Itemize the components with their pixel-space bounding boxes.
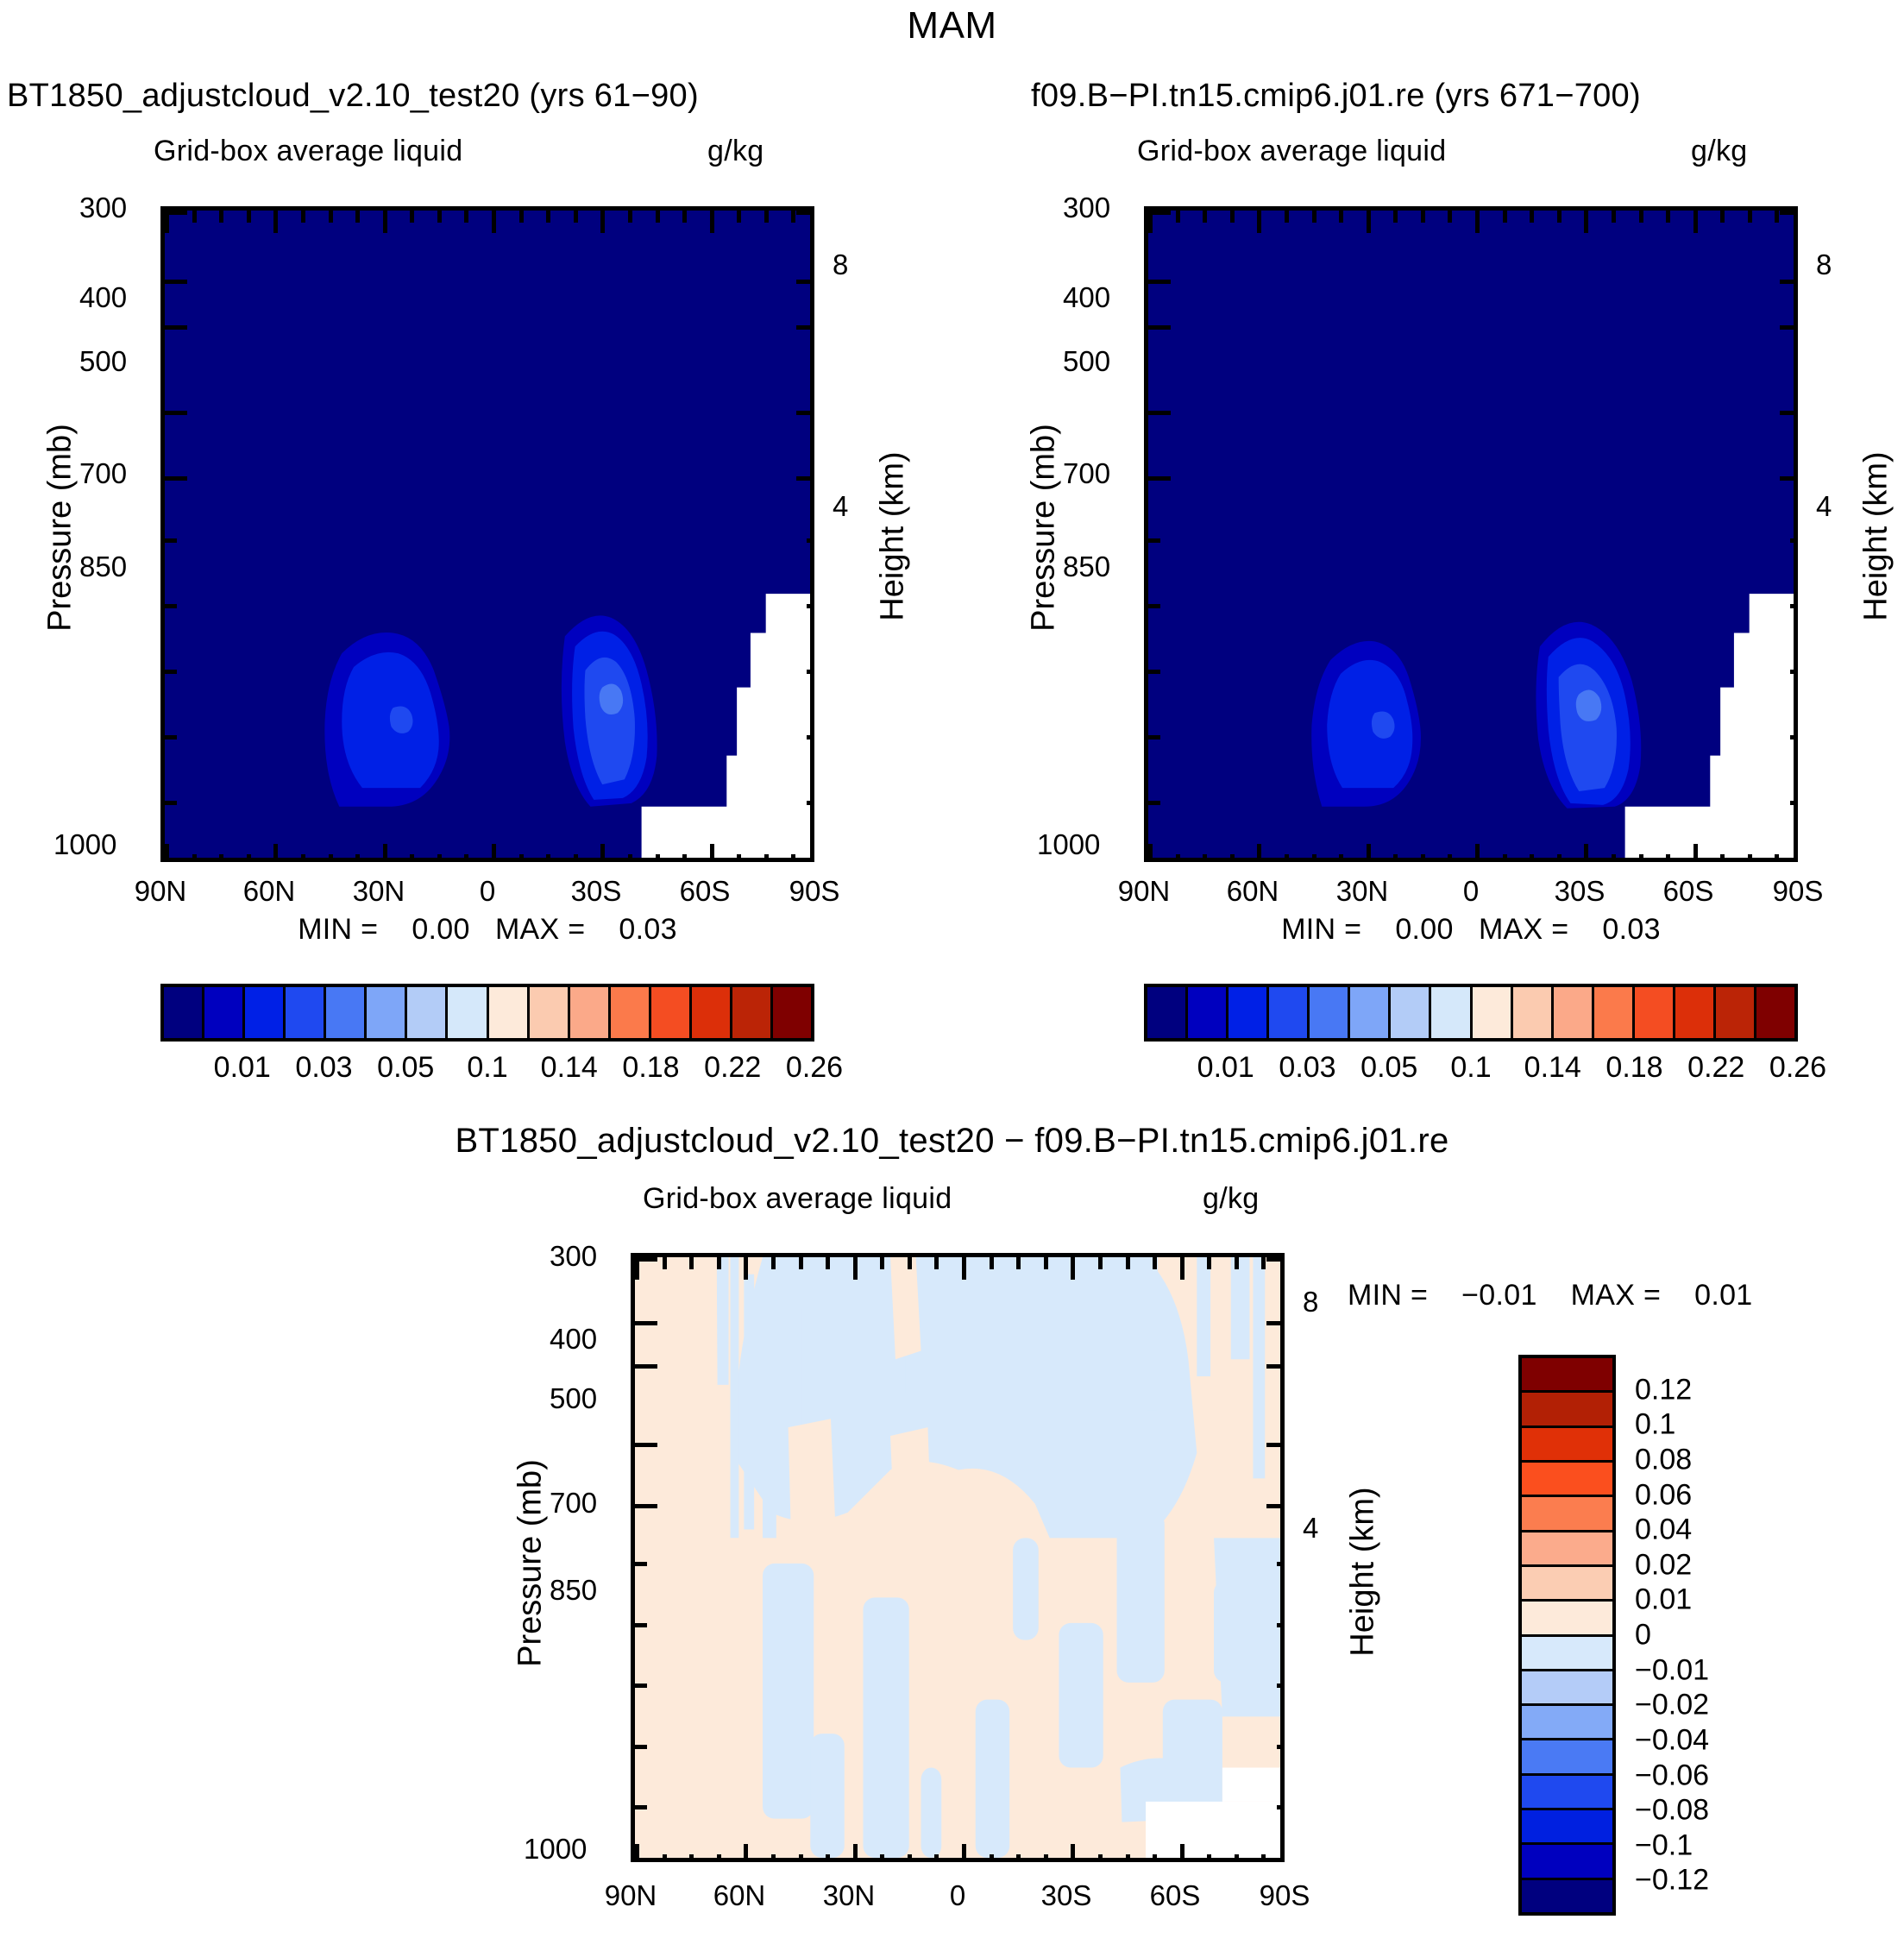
axis-tick — [1277, 1745, 1285, 1749]
top-left-subtitle: Grid-box average liquid — [154, 135, 462, 168]
colorbar-tick-label: 0.01 — [1197, 1051, 1254, 1085]
axis-tick — [519, 211, 524, 223]
colorbar-cell — [1522, 1845, 1612, 1879]
axis-tick — [1261, 1257, 1266, 1269]
colorbar-cell — [732, 987, 773, 1038]
axis-tick — [1203, 211, 1207, 223]
difference-units: g/kg — [1203, 1182, 1259, 1216]
colorbar-tick-label: 0.14 — [1524, 1051, 1581, 1085]
colorbar-cell — [1756, 987, 1794, 1038]
colorbar-cell — [1522, 1393, 1612, 1427]
axis-tick — [764, 211, 769, 223]
axis-tick — [1261, 1854, 1266, 1862]
axis-tick — [710, 211, 714, 233]
top-right-colorbar-labels: 0.010.030.050.10.140.180.220.26 — [1144, 1051, 1798, 1087]
axis-tick — [1235, 1257, 1239, 1269]
axis-tick — [165, 604, 177, 608]
colorbar-cell — [1513, 987, 1554, 1038]
axis-tick — [635, 1443, 657, 1447]
difference-y-axis-title: Pressure (mb) — [512, 1421, 550, 1706]
difference-max-value: 0.01 — [1694, 1279, 1752, 1312]
axis-tick — [1235, 1854, 1239, 1862]
colorbar-cell — [1431, 987, 1472, 1038]
axis-tick — [682, 211, 687, 223]
axis-tick — [1780, 411, 1798, 415]
colorbar-cell — [1473, 987, 1513, 1038]
axis-tick — [1639, 854, 1643, 862]
axis-tick — [219, 854, 223, 862]
colorbar-cell — [1522, 1810, 1612, 1845]
colorbar-tick-label: 0.18 — [1606, 1051, 1662, 1085]
axis-tick — [990, 1854, 994, 1862]
axis-tick — [1148, 670, 1160, 674]
axis-tick — [247, 211, 251, 223]
axis-tick — [628, 854, 632, 862]
colorbar-tick-label: −0.08 — [1635, 1794, 1709, 1828]
difference-contour-field — [635, 1257, 1280, 1858]
axis-tick — [165, 844, 169, 862]
colorbar-cell — [1554, 987, 1594, 1038]
top-right-y-axis-title: Pressure (mb) — [1026, 386, 1063, 670]
axis-tick — [1148, 801, 1160, 805]
top-right-colorbar[interactable] — [1144, 984, 1798, 1042]
axis-tick — [1421, 854, 1425, 862]
axis-tick — [826, 1257, 830, 1269]
axis-tick — [796, 211, 814, 215]
axis-tick — [383, 211, 387, 233]
axis-tick — [437, 211, 442, 223]
axis-tick — [1180, 1844, 1185, 1862]
top-left-colorbar[interactable] — [160, 984, 814, 1042]
axis-tick — [934, 1257, 939, 1269]
axis-tick — [1266, 1257, 1285, 1262]
axis-tick — [744, 1257, 748, 1280]
axis-tick — [1203, 854, 1207, 862]
colorbar-tick-label: −0.12 — [1635, 1864, 1709, 1898]
colorbar-cell — [245, 987, 286, 1038]
axis-tick — [1148, 280, 1171, 284]
colorbar-cell — [1635, 987, 1675, 1038]
colorbar-cell — [773, 987, 811, 1038]
axis-tick — [546, 854, 550, 862]
axis-tick — [663, 1257, 667, 1269]
colorbar-tick-label: −0.1 — [1635, 1828, 1693, 1862]
axis-tick — [219, 211, 223, 223]
axis-tick — [764, 854, 769, 862]
axis-tick — [628, 211, 632, 223]
axis-tick — [1312, 854, 1316, 862]
axis-tick — [165, 801, 177, 805]
axis-tick — [1775, 211, 1779, 223]
colorbar-tick-label: 0.01 — [214, 1051, 271, 1085]
colorbar-cell — [1522, 1497, 1612, 1532]
difference-y2-axis-title: Height (km) — [1345, 1430, 1382, 1715]
axis-tick — [880, 1854, 884, 1862]
axis-tick — [1503, 211, 1507, 223]
axis-tick — [165, 211, 187, 215]
axis-tick — [1790, 604, 1798, 608]
axis-tick — [962, 1844, 966, 1862]
colorbar-cell — [1522, 1358, 1612, 1393]
difference-minmax: MIN = −0.01 MAX = 0.01 — [1348, 1279, 1753, 1312]
axis-tick — [635, 1805, 647, 1809]
axis-tick — [771, 1854, 776, 1862]
colorbar-tick-label: 0.02 — [1635, 1548, 1692, 1582]
axis-tick — [492, 844, 496, 862]
colorbar-cell — [1147, 987, 1188, 1038]
top-right-xticklabels: 90N 60N 30N 0 30S 60S 90S — [1144, 875, 1798, 909]
axis-tick — [1098, 1257, 1103, 1269]
axis-tick — [807, 670, 814, 674]
top-right-min-value: 0.00 — [1395, 913, 1453, 946]
colorbar-tick-label: 0.08 — [1635, 1443, 1692, 1476]
axis-tick — [1153, 1257, 1157, 1269]
colorbar-tick-label: 0.06 — [1635, 1478, 1692, 1512]
difference-y2label-8: 8 — [1303, 1286, 1318, 1318]
axis-tick — [710, 844, 714, 862]
axis-tick — [1207, 1257, 1211, 1269]
axis-tick — [410, 854, 414, 862]
axis-tick — [1277, 1562, 1285, 1566]
axis-tick — [635, 1684, 647, 1688]
axis-tick — [1071, 1844, 1075, 1862]
axis-tick — [807, 538, 814, 543]
difference-panel-title: BT1850_adjustcloud_v2.10_test20 − f09.B−… — [0, 1122, 1904, 1161]
axis-tick — [1584, 844, 1588, 862]
axis-tick — [1148, 844, 1153, 862]
axis-tick — [908, 1257, 912, 1269]
axis-tick — [1098, 1854, 1103, 1862]
difference-colorbar-labels: 0.120.10.080.060.040.020.010−0.01−0.02−0… — [1635, 1355, 1833, 1916]
axis-tick — [1044, 1854, 1048, 1862]
top-left-y2label-8: 8 — [833, 249, 848, 281]
axis-tick — [717, 1257, 721, 1269]
axis-tick — [1639, 211, 1643, 223]
axis-tick — [165, 538, 177, 543]
axis-tick — [737, 854, 741, 862]
axis-tick — [1720, 211, 1725, 223]
top-left-ylabel-1000: 1000 — [53, 828, 116, 861]
colorbar-tick-label: 0.04 — [1635, 1514, 1692, 1547]
axis-tick — [1148, 411, 1171, 415]
colorbar-cell — [1391, 987, 1431, 1038]
axis-tick — [1367, 211, 1371, 233]
axis-tick — [635, 1321, 657, 1325]
top-left-min-value: 0.00 — [412, 913, 469, 946]
colorbar-cell — [651, 987, 692, 1038]
axis-tick — [1448, 854, 1452, 862]
axis-tick — [247, 854, 251, 862]
top-right-ylabel-500: 500 — [1063, 345, 1110, 378]
axis-tick — [301, 854, 305, 862]
axis-tick — [1266, 1364, 1285, 1369]
axis-tick — [826, 1854, 830, 1862]
colorbar-tick-label: 0.14 — [541, 1051, 598, 1085]
axis-tick — [437, 854, 442, 862]
axis-tick — [1666, 854, 1670, 862]
top-right-y2label-4: 4 — [1816, 490, 1832, 523]
colorbar-tick-label: 0.05 — [1360, 1051, 1417, 1085]
difference-ylabel-700: 700 — [550, 1487, 597, 1520]
top-right-y2label-8: 8 — [1816, 249, 1832, 281]
axis-tick — [1790, 670, 1798, 674]
colorbar-cell — [1522, 1567, 1612, 1602]
axis-tick — [799, 1257, 803, 1269]
top-left-units: g/kg — [707, 135, 763, 168]
axis-tick — [1266, 1443, 1285, 1447]
axis-tick — [383, 844, 387, 862]
top-right-ylabel-300: 300 — [1063, 192, 1110, 224]
figure-season-title: MAM — [0, 4, 1904, 47]
colorbar-cell — [570, 987, 611, 1038]
colorbar-cell — [407, 987, 448, 1038]
contour-field — [165, 211, 810, 858]
axis-tick — [635, 1745, 647, 1749]
top-left-plot-area[interactable] — [160, 206, 814, 862]
axis-tick — [1503, 854, 1507, 862]
axis-tick — [1126, 1257, 1130, 1269]
axis-tick — [1016, 1854, 1021, 1862]
axis-tick — [1367, 844, 1371, 862]
colorbar-cell — [1522, 1740, 1612, 1775]
top-right-max-value: 0.03 — [1602, 913, 1660, 946]
colorbar-cell — [1228, 987, 1269, 1038]
axis-tick — [1339, 854, 1343, 862]
top-right-ylabel-400: 400 — [1063, 281, 1110, 314]
axis-tick — [853, 1844, 858, 1862]
colorbar-tick-label: 0.1 — [1450, 1051, 1491, 1085]
top-right-units: g/kg — [1691, 135, 1747, 168]
colorbar-cell — [367, 987, 407, 1038]
axis-tick — [1780, 325, 1798, 330]
colorbar-cell — [1594, 987, 1635, 1038]
axis-tick — [600, 211, 605, 233]
axis-tick — [635, 1364, 657, 1369]
colorbar-cell — [1269, 987, 1310, 1038]
axis-tick — [656, 211, 660, 223]
difference-ylabel-850: 850 — [550, 1574, 597, 1607]
axis-tick — [908, 1854, 912, 1862]
axis-tick — [1148, 211, 1171, 215]
axis-tick — [519, 854, 524, 862]
axis-tick — [1266, 1321, 1285, 1325]
axis-tick — [990, 1257, 994, 1269]
difference-min-value: −0.01 — [1461, 1279, 1537, 1312]
axis-tick — [1393, 854, 1398, 862]
top-left-y2label-4: 4 — [833, 490, 848, 523]
axis-tick — [1775, 854, 1779, 862]
axis-tick — [546, 211, 550, 223]
top-left-xticklabels: 90N 60N 30N 0 30S 60S 90S — [160, 875, 814, 909]
top-right-plot-area[interactable] — [1144, 206, 1798, 862]
colorbar-cell — [1522, 1532, 1612, 1567]
axis-tick — [689, 1854, 694, 1862]
axis-tick — [1475, 844, 1480, 862]
axis-tick — [464, 854, 468, 862]
axis-tick — [1277, 1684, 1285, 1688]
axis-tick — [192, 211, 197, 223]
axis-tick — [1339, 211, 1343, 223]
axis-tick — [1393, 211, 1398, 223]
axis-tick — [689, 1257, 694, 1269]
axis-tick — [1230, 854, 1235, 862]
colorbar-cell — [1310, 987, 1350, 1038]
colorbar-cell — [1522, 1776, 1612, 1810]
colorbar-tick-label: −0.04 — [1635, 1723, 1709, 1757]
axis-tick — [273, 211, 278, 233]
axis-tick — [1780, 476, 1798, 481]
axis-tick — [1448, 211, 1452, 223]
difference-ylabel-1000: 1000 — [524, 1833, 587, 1866]
colorbar-cell — [1350, 987, 1391, 1038]
axis-tick — [1720, 854, 1725, 862]
axis-tick — [796, 476, 814, 481]
colorbar-cell — [286, 987, 326, 1038]
colorbar-cell — [1522, 1637, 1612, 1671]
axis-tick — [1557, 211, 1562, 223]
difference-plot-area[interactable] — [631, 1253, 1285, 1862]
axis-tick — [1475, 211, 1480, 233]
axis-tick — [1044, 1257, 1048, 1269]
axis-tick — [355, 211, 360, 223]
axis-tick — [165, 325, 187, 330]
axis-tick — [165, 670, 177, 674]
axis-tick — [1016, 1257, 1021, 1269]
colorbar-tick-label: 0.03 — [295, 1051, 352, 1085]
colorbar-tick-label: 0.12 — [1635, 1373, 1692, 1407]
difference-ylabel-500: 500 — [550, 1382, 597, 1415]
difference-xticklabels: 90N 60N 30N 0 30S 60S 90S — [631, 1879, 1285, 1914]
axis-tick — [165, 280, 187, 284]
axis-tick — [791, 854, 795, 862]
top-left-colorbar-labels: 0.010.030.050.10.140.180.220.26 — [160, 1051, 814, 1087]
colorbar-tick-label: 0.1 — [1635, 1408, 1675, 1442]
colorbar-tick-label: 0 — [1635, 1619, 1651, 1652]
colorbar-cell — [1522, 1671, 1612, 1706]
axis-tick — [796, 411, 814, 415]
top-left-minmax: MIN = 0.00 MAX = 0.03 — [160, 913, 814, 947]
colorbar-cell — [1188, 987, 1228, 1038]
top-right-subtitle: Grid-box average liquid — [1137, 135, 1446, 168]
axis-tick — [492, 211, 496, 233]
top-left-ylabel-300: 300 — [79, 192, 127, 224]
top-right-minmax: MIN = 0.00 MAX = 0.03 — [1144, 913, 1798, 947]
axis-tick — [682, 854, 687, 862]
axis-tick — [934, 1854, 939, 1862]
axis-tick — [771, 1257, 776, 1269]
colorbar-cell — [164, 987, 204, 1038]
colorbar-tick-label: 0.05 — [377, 1051, 434, 1085]
axis-tick — [1612, 211, 1616, 223]
top-left-ylabel-700: 700 — [79, 457, 127, 490]
top-left-ylabel-500: 500 — [79, 345, 127, 378]
difference-subtitle: Grid-box average liquid — [643, 1182, 952, 1216]
colorbar-cell — [1716, 987, 1756, 1038]
axis-tick — [807, 604, 814, 608]
axis-tick — [1277, 1623, 1285, 1627]
axis-tick — [1790, 735, 1798, 739]
axis-tick — [1266, 1504, 1285, 1508]
axis-tick — [635, 1844, 639, 1862]
colorbar-tick-label: −0.02 — [1635, 1689, 1709, 1722]
axis-tick — [410, 211, 414, 223]
axis-tick — [1557, 854, 1562, 862]
axis-tick — [1584, 211, 1588, 233]
axis-tick — [1257, 844, 1261, 862]
colorbar-tick-label: 0.26 — [1769, 1051, 1826, 1085]
axis-tick — [1071, 1257, 1075, 1280]
axis-tick — [600, 844, 605, 862]
axis-tick — [744, 1844, 748, 1862]
axis-tick — [807, 801, 814, 805]
axis-tick — [1285, 854, 1289, 862]
axis-tick — [301, 211, 305, 223]
axis-tick — [796, 280, 814, 284]
colorbar-cell — [611, 987, 651, 1038]
axis-tick — [192, 854, 197, 862]
axis-tick — [1666, 211, 1670, 223]
axis-tick — [1277, 1805, 1285, 1809]
axis-tick — [464, 211, 468, 223]
axis-tick — [635, 1623, 647, 1627]
colorbar-tick-label: −0.01 — [1635, 1653, 1709, 1687]
axis-tick — [165, 735, 177, 739]
axis-tick — [1153, 1854, 1157, 1862]
axis-tick — [165, 476, 187, 481]
axis-tick — [1693, 211, 1698, 233]
colorbar-cell — [489, 987, 530, 1038]
axis-tick — [574, 854, 578, 862]
axis-tick — [799, 1854, 803, 1862]
axis-tick — [1148, 325, 1171, 330]
top-right-ylabel-1000: 1000 — [1037, 828, 1100, 861]
axis-tick — [1207, 1854, 1211, 1862]
axis-tick — [1257, 211, 1261, 233]
colorbar-cell — [1522, 1706, 1612, 1740]
axis-tick — [1780, 211, 1798, 215]
difference-y2label-4: 4 — [1303, 1512, 1318, 1545]
colorbar-cell — [1522, 1463, 1612, 1497]
colorbar-tick-label: −0.06 — [1635, 1759, 1709, 1792]
axis-tick — [1790, 801, 1798, 805]
axis-tick — [273, 844, 278, 862]
axis-tick — [1148, 476, 1171, 481]
difference-ylabel-400: 400 — [550, 1323, 597, 1356]
top-right-y2-axis-title: Height (km) — [1858, 394, 1895, 679]
difference-ylabel-300: 300 — [550, 1240, 597, 1273]
colorbar-tick-label: 0.1 — [467, 1051, 507, 1085]
colorbar-cell — [530, 987, 570, 1038]
colorbar-cell — [1522, 1602, 1612, 1636]
axis-tick — [635, 1257, 657, 1262]
axis-tick — [1285, 211, 1289, 223]
top-left-ylabel-850: 850 — [79, 551, 127, 583]
axis-tick — [329, 854, 333, 862]
axis-tick — [796, 325, 814, 330]
colorbar-cell — [1522, 1880, 1612, 1912]
top-right-ylabel-700: 700 — [1063, 457, 1110, 490]
axis-tick — [1421, 211, 1425, 223]
axis-tick — [717, 1854, 721, 1862]
axis-tick — [1530, 854, 1534, 862]
axis-tick — [1126, 1854, 1130, 1862]
contour-field — [1148, 211, 1794, 858]
difference-colorbar[interactable] — [1518, 1355, 1616, 1916]
axis-tick — [656, 854, 660, 862]
axis-tick — [1790, 538, 1798, 543]
axis-tick — [1176, 211, 1180, 223]
colorbar-cell — [1522, 1428, 1612, 1463]
